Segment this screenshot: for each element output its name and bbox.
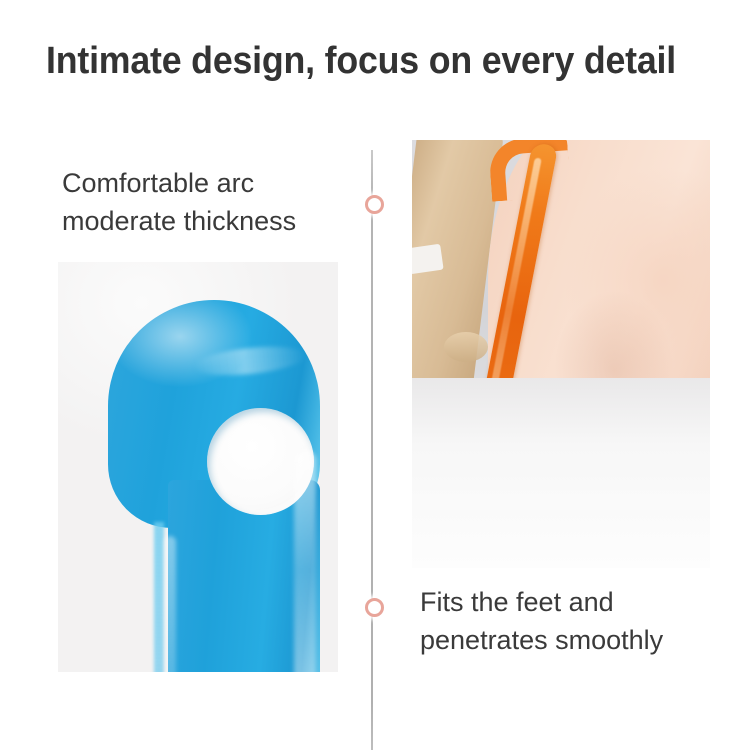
page-title: Intimate design, focus on every detail xyxy=(46,40,685,83)
horn-gloss-left xyxy=(164,536,176,672)
horn-left-edge-highlight xyxy=(154,522,164,672)
blue-shoe-horn-object xyxy=(108,300,320,672)
divider-node-top xyxy=(365,195,384,214)
divider-node-bottom xyxy=(365,598,384,617)
wooden-chair-knob xyxy=(444,332,488,362)
wooden-chair-joint xyxy=(412,244,444,274)
horn-gloss-right xyxy=(294,450,316,672)
photo-floor xyxy=(412,378,710,568)
feature-caption-comfortable-arc: Comfortable arc moderate thickness xyxy=(62,164,296,240)
photo-shoe-horn-in-use xyxy=(412,140,710,568)
vertical-divider xyxy=(371,150,373,750)
feature-caption-fits-the-feet: Fits the feet and penetrates smoothly xyxy=(420,583,663,659)
infographic-canvas: Intimate design, focus on every detail C… xyxy=(0,0,750,750)
photo-blue-shoe-horn xyxy=(58,262,338,672)
